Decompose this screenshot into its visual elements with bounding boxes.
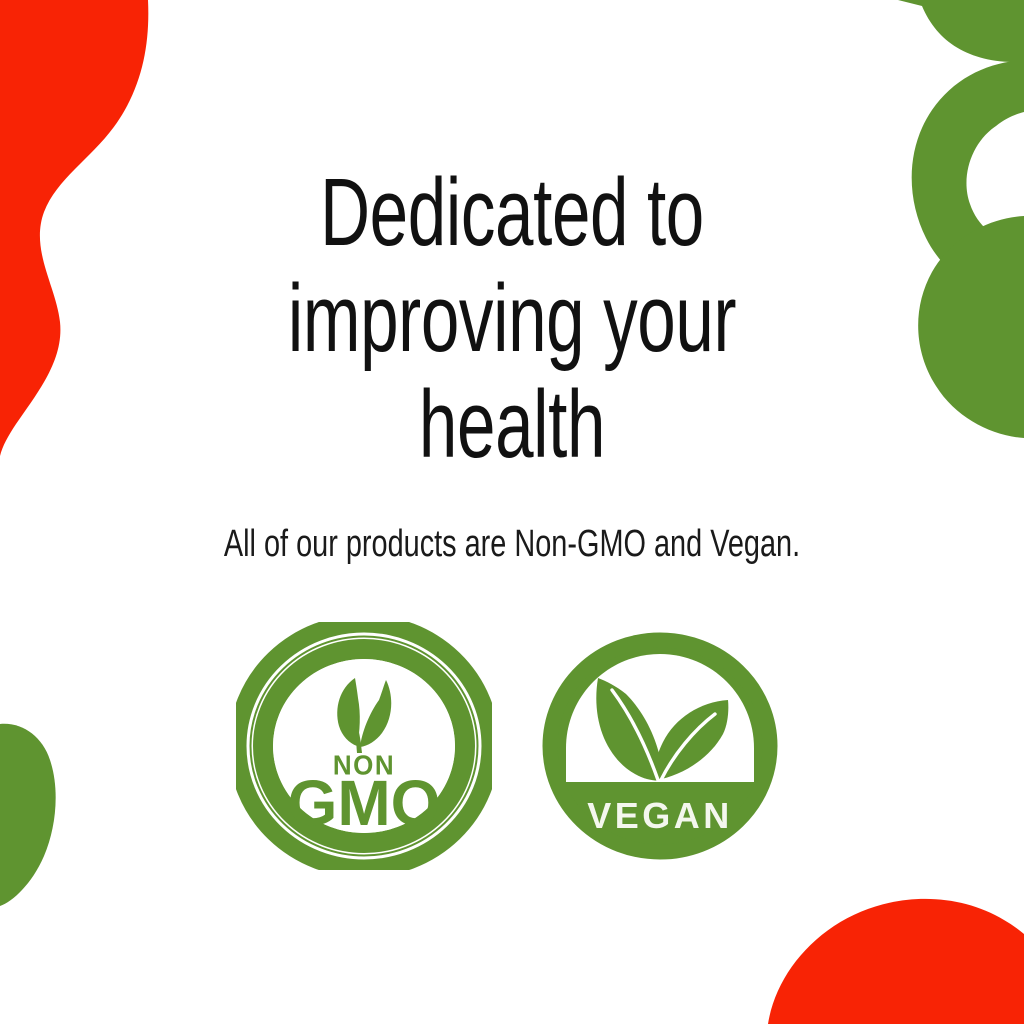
non-gmo-badge-graphic: NON GMO: [236, 622, 492, 870]
certification-badge-row: NON GMO: [236, 622, 788, 870]
vegan-badge-graphic: VEGAN: [532, 622, 788, 870]
poster-content: Dedicated toimproving yourhealth All of …: [0, 0, 1024, 1024]
non-gmo-line2: GMO: [288, 767, 441, 839]
vegan-label: VEGAN: [587, 795, 733, 836]
subtitle: All of our products are Non-GMO and Vega…: [170, 522, 854, 566]
non-gmo-badge: NON GMO: [236, 622, 492, 870]
headline-line-3: health: [419, 371, 605, 478]
page-title: Dedicated toimproving yourhealth: [274, 160, 749, 478]
headline-line-2: improving your: [288, 265, 736, 372]
poster-canvas: Dedicated toimproving yourhealth All of …: [0, 0, 1024, 1024]
vegan-badge: VEGAN: [532, 622, 788, 870]
headline-line-1: Dedicated to: [320, 159, 704, 266]
